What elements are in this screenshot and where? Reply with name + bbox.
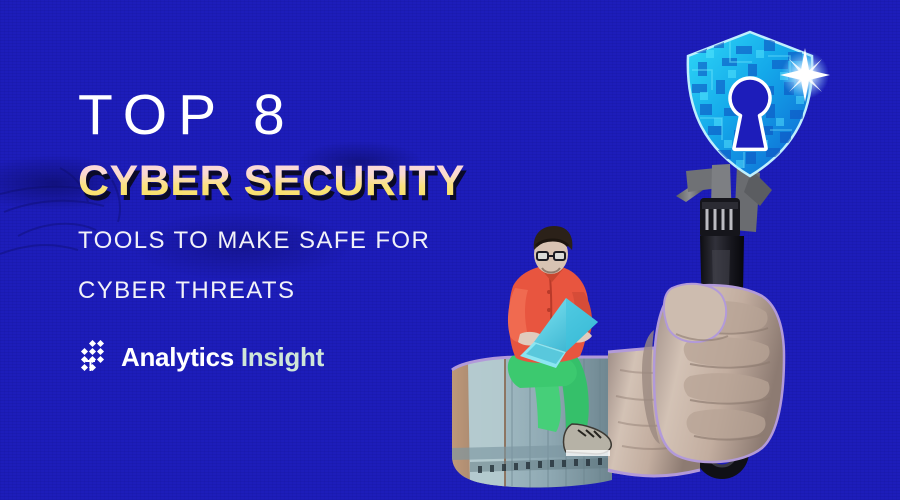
forearm (608, 344, 700, 476)
wrench-icon (676, 164, 772, 479)
sparkle-icon (780, 48, 830, 102)
laptop-icon (520, 298, 598, 368)
dot-grid-icon (78, 340, 110, 374)
subline-text-2: CYBER THREATS (78, 274, 508, 308)
subline-text-1: TOOLS TO MAKE SAFE FOR (78, 224, 508, 258)
hero-banner: TOP 8 CYBER SECURITY CYBER SECURITY TOOL… (0, 0, 900, 500)
brand-logo[interactable]: Analytics Insight (78, 340, 324, 374)
headline-wrapper: CYBER SECURITY CYBER SECURITY (78, 158, 508, 208)
hand-grip (642, 284, 784, 462)
logo-wordmark: Analytics Insight (121, 342, 324, 372)
headline-block: TOP 8 CYBER SECURITY CYBER SECURITY TOOL… (78, 86, 508, 308)
shield-icon (688, 32, 830, 176)
kicker-text: TOP 8 (78, 86, 508, 144)
man-with-laptop (508, 226, 611, 456)
eyeglasses-icon (537, 252, 565, 260)
headline-text: CYBER SECURITY (78, 158, 465, 204)
logo-word-analytics: Analytics (121, 342, 234, 372)
logo-word-insight: Insight (241, 342, 324, 372)
denim-sleeve-cuff (452, 355, 612, 492)
